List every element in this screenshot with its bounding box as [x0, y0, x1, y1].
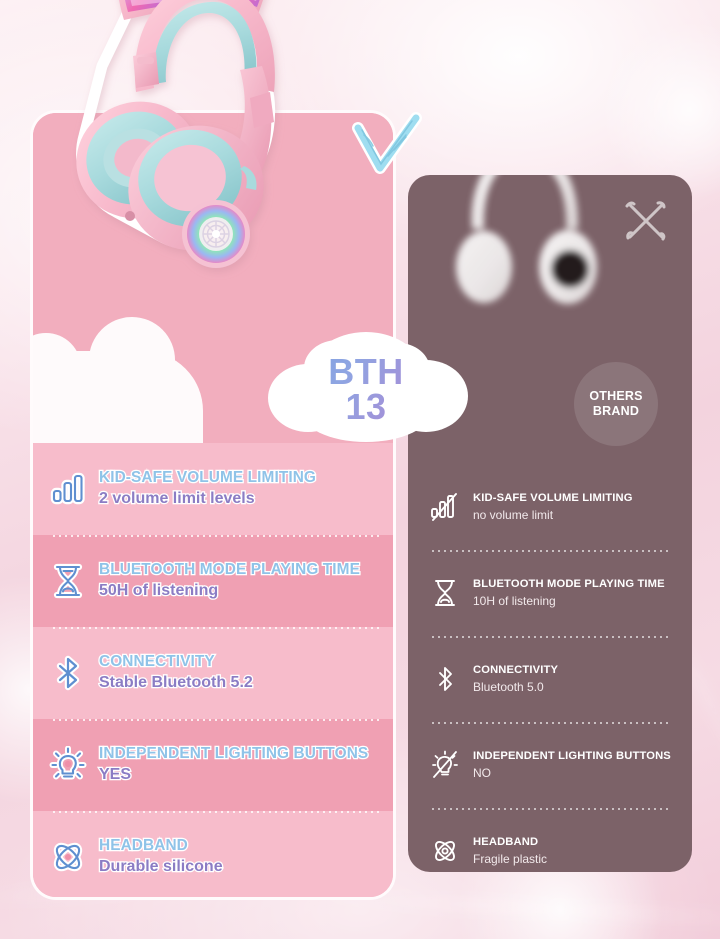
others-feature-list: KID-SAFE VOLUME LIMITING no volume limit… [408, 464, 692, 872]
cloud-decoration [33, 351, 203, 443]
volume-bars-icon [49, 470, 87, 508]
others-feature-title: HEADBAND [473, 835, 547, 849]
others-feature-text: HEADBAND Fragile plastic [473, 835, 547, 867]
bth13-feature-title: BLUETOOTH MODE PLAYING TIME [99, 562, 360, 579]
bth13-feature-value: 50H of listening [99, 582, 360, 600]
others-brand-panel: OTHERS BRAND KID-SAFE VOLUME LIMITING no… [408, 175, 692, 872]
bth13-feature-text: BLUETOOTH MODE PLAYING TIME 50H of liste… [99, 562, 360, 600]
bth13-feature-row: KID-SAFE VOLUME LIMITING 2 volume limit … [33, 443, 393, 535]
hourglass-icon [49, 562, 87, 600]
others-feature-text: CONNECTIVITY Bluetooth 5.0 [473, 663, 558, 695]
check-mark-icon [338, 104, 434, 196]
hourglass-icon [430, 577, 460, 609]
bth13-feature-title: CONNECTIVITY [99, 654, 253, 671]
lightbulb-icon [49, 746, 87, 784]
others-feature-row: BLUETOOTH MODE PLAYING TIME 10H of liste… [408, 550, 692, 636]
bth13-cloud-badge: BTH 13 [262, 324, 470, 448]
bth13-feature-row: INDEPENDENT LIGHTING BUTTONS YES [33, 719, 393, 811]
others-feature-value: no volume limit [473, 507, 633, 523]
others-brand-badge: OTHERS BRAND [574, 362, 658, 446]
bth13-feature-title: HEADBAND [99, 838, 223, 855]
others-feature-text: KID-SAFE VOLUME LIMITING no volume limit [473, 491, 633, 523]
volume-muted-icon [430, 491, 460, 523]
others-feature-value: NO [473, 765, 670, 781]
others-feature-value: Bluetooth 5.0 [473, 679, 558, 695]
bth13-feature-row: BLUETOOTH MODE PLAYING TIME 50H of liste… [33, 535, 393, 627]
bth13-feature-title: INDEPENDENT LIGHTING BUTTONS [99, 746, 368, 763]
bth13-badge-line2: 13 [345, 389, 386, 424]
bth13-feature-list: KID-SAFE VOLUME LIMITING 2 volume limit … [33, 443, 393, 900]
bth13-feature-row: CONNECTIVITY Stable Bluetooth 5.2 [33, 627, 393, 719]
others-feature-title: BLUETOOTH MODE PLAYING TIME [473, 577, 665, 591]
bth13-feature-row: HEADBAND Durable silicone [33, 811, 393, 900]
background-glow [600, 20, 720, 200]
bluetooth-icon [49, 654, 87, 692]
atom-icon [430, 835, 460, 867]
others-feature-title: CONNECTIVITY [473, 663, 558, 677]
others-feature-title: INDEPENDENT LIGHTING BUTTONS [473, 749, 670, 763]
others-badge-line1: OTHERS [589, 389, 642, 404]
others-feature-title: KID-SAFE VOLUME LIMITING [473, 491, 633, 505]
others-badge-line2: BRAND [593, 404, 639, 419]
others-feature-text: BLUETOOTH MODE PLAYING TIME 10H of liste… [473, 577, 665, 609]
others-feature-row: KID-SAFE VOLUME LIMITING no volume limit [408, 464, 692, 550]
others-feature-value: Fragile plastic [473, 851, 547, 867]
others-feature-row: HEADBAND Fragile plastic [408, 808, 692, 872]
bth13-feature-text: CONNECTIVITY Stable Bluetooth 5.2 [99, 654, 253, 692]
others-feature-value: 10H of listening [473, 593, 665, 609]
bth13-feature-text: KID-SAFE VOLUME LIMITING 2 volume limit … [99, 470, 316, 508]
bth13-feature-text: INDEPENDENT LIGHTING BUTTONS YES [99, 746, 368, 784]
bth13-feature-value: Durable silicone [99, 858, 223, 876]
bth13-feature-value: Stable Bluetooth 5.2 [99, 674, 253, 692]
others-feature-row: INDEPENDENT LIGHTING BUTTONS NO [408, 722, 692, 808]
lightbulb-off-icon [430, 749, 460, 781]
bth13-badge-text: BTH 13 [262, 324, 470, 448]
bth13-feature-value: YES [99, 766, 368, 784]
pink-cat-ear-headphones-image [18, 0, 348, 316]
bth13-feature-value: 2 volume limit levels [99, 490, 316, 508]
bluetooth-icon [430, 663, 460, 695]
bth13-feature-title: KID-SAFE VOLUME LIMITING [99, 470, 316, 487]
others-feature-text: INDEPENDENT LIGHTING BUTTONS NO [473, 749, 670, 781]
bth13-badge-line1: BTH [328, 354, 404, 389]
x-mark-icon [618, 193, 674, 249]
others-feature-row: CONNECTIVITY Bluetooth 5.0 [408, 636, 692, 722]
bth13-feature-text: HEADBAND Durable silicone [99, 838, 223, 876]
atom-icon [49, 838, 87, 876]
